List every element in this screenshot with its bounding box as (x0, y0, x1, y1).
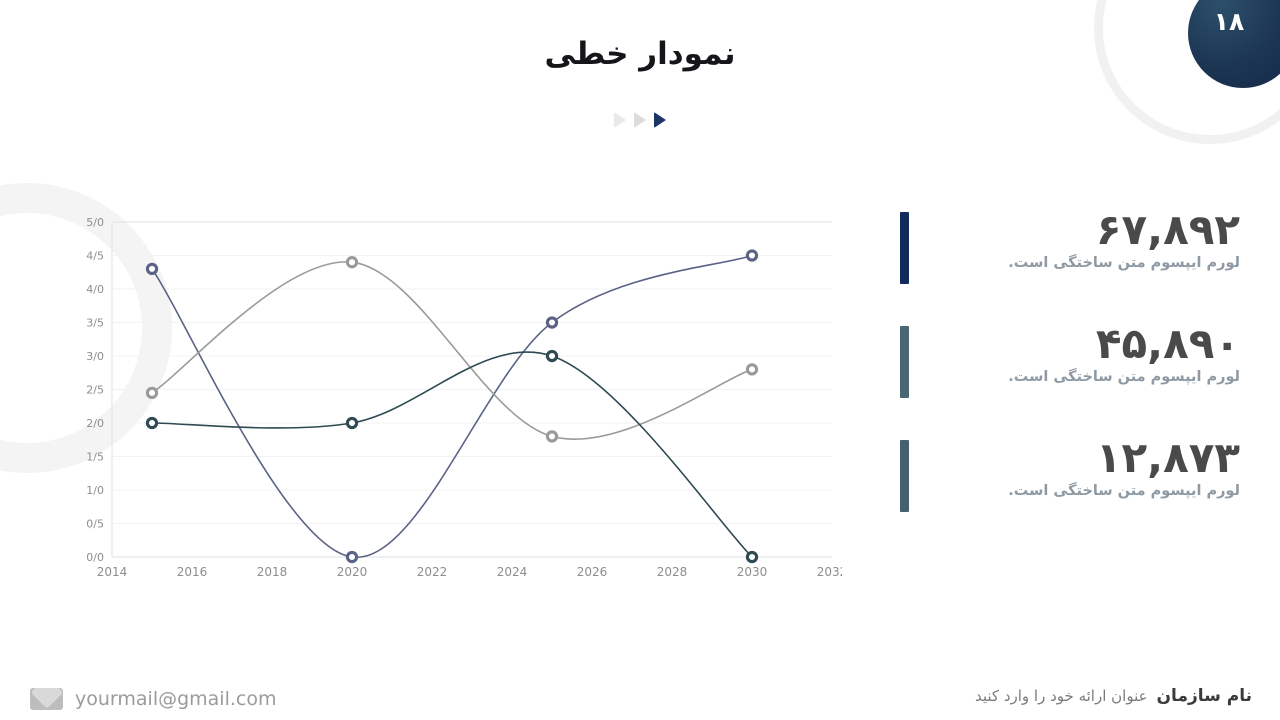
triangle-marker-icon (654, 112, 666, 128)
chart-series-series-navy (147, 251, 756, 562)
svg-text:2024: 2024 (497, 565, 528, 579)
chart-data-point (547, 351, 556, 360)
chart-data-point (147, 264, 156, 273)
footer-branding: نام سازمان عنوان ارائه خود را وارد کنید (975, 686, 1252, 706)
chart-data-point (747, 365, 756, 374)
slide-bullets (0, 112, 1280, 128)
stat-item: ۴۵,۸۹۰لورم ایپسوم متن ساختگی است. (900, 320, 1240, 385)
chart-data-point (547, 432, 556, 441)
envelope-icon (30, 688, 63, 710)
chart-data-point (747, 552, 756, 561)
svg-text:2/0: 2/0 (86, 417, 104, 430)
svg-text:2032: 2032 (817, 565, 842, 579)
svg-text:2026: 2026 (577, 565, 608, 579)
chart-data-point (347, 552, 356, 561)
stat-value: ۱۲,۸۷۳ (922, 434, 1240, 481)
stat-accent-bar (900, 212, 909, 284)
footer-email: yourmail@gmail.com (75, 688, 277, 710)
svg-text:2022: 2022 (417, 565, 448, 579)
slide-root: ۱۸ نمودار خطی 0/00/51/01/52/02/53/03/54/… (0, 0, 1280, 720)
svg-text:4/5: 4/5 (86, 250, 104, 263)
page-number-label: ۱۸ (1214, 7, 1245, 36)
chart-data-point (747, 251, 756, 260)
triangle-marker-icon (634, 112, 646, 128)
stat-caption: لورم ایپسوم متن ساختگی است. (922, 255, 1240, 271)
page-title: نمودار خطی (0, 36, 1280, 72)
chart-series-series-gray (147, 258, 756, 441)
chart-data-point (347, 258, 356, 267)
svg-text:2/5: 2/5 (86, 384, 104, 397)
svg-text:1/5: 1/5 (86, 451, 104, 464)
svg-text:5/0: 5/0 (86, 216, 104, 229)
svg-text:2020: 2020 (337, 565, 368, 579)
stat-accent-bar (900, 440, 909, 512)
svg-text:4/0: 4/0 (86, 283, 104, 296)
triangle-marker-icon (614, 112, 626, 128)
svg-text:1/0: 1/0 (86, 484, 104, 497)
line-chart-svg: 0/00/51/01/52/02/53/03/54/04/55/02014201… (72, 215, 842, 590)
stat-accent-bar (900, 326, 909, 398)
svg-text:3/0: 3/0 (86, 350, 104, 363)
stat-value: ۴۵,۸۹۰ (922, 320, 1240, 367)
stat-item: ۱۲,۸۷۳لورم ایپسوم متن ساختگی است. (900, 434, 1240, 499)
line-chart: 0/00/51/01/52/02/53/03/54/04/55/02014201… (72, 215, 842, 590)
stat-caption: لورم ایپسوم متن ساختگی است. (922, 369, 1240, 385)
stat-item: ۶۷,۸۹۲لورم ایپسوم متن ساختگی است. (900, 206, 1240, 271)
stats-list: ۶۷,۸۹۲لورم ایپسوم متن ساختگی است.۴۵,۸۹۰ل… (900, 206, 1240, 499)
svg-text:2030: 2030 (737, 565, 768, 579)
footer-subtitle: عنوان ارائه خود را وارد کنید (975, 687, 1148, 705)
footer-contact: yourmail@gmail.com (30, 688, 277, 710)
chart-data-point (147, 388, 156, 397)
svg-text:2018: 2018 (257, 565, 288, 579)
svg-text:3/5: 3/5 (86, 317, 104, 330)
stat-value: ۶۷,۸۹۲ (922, 206, 1240, 253)
svg-text:2014: 2014 (97, 565, 128, 579)
chart-data-point (547, 318, 556, 327)
chart-data-point (347, 418, 356, 427)
footer-org-name: نام سازمان (1157, 686, 1252, 706)
svg-text:2028: 2028 (657, 565, 688, 579)
stat-caption: لورم ایپسوم متن ساختگی است. (922, 483, 1240, 499)
svg-text:2016: 2016 (177, 565, 208, 579)
chart-data-point (147, 418, 156, 427)
svg-text:0/0: 0/0 (86, 551, 104, 564)
svg-text:0/5: 0/5 (86, 518, 104, 531)
